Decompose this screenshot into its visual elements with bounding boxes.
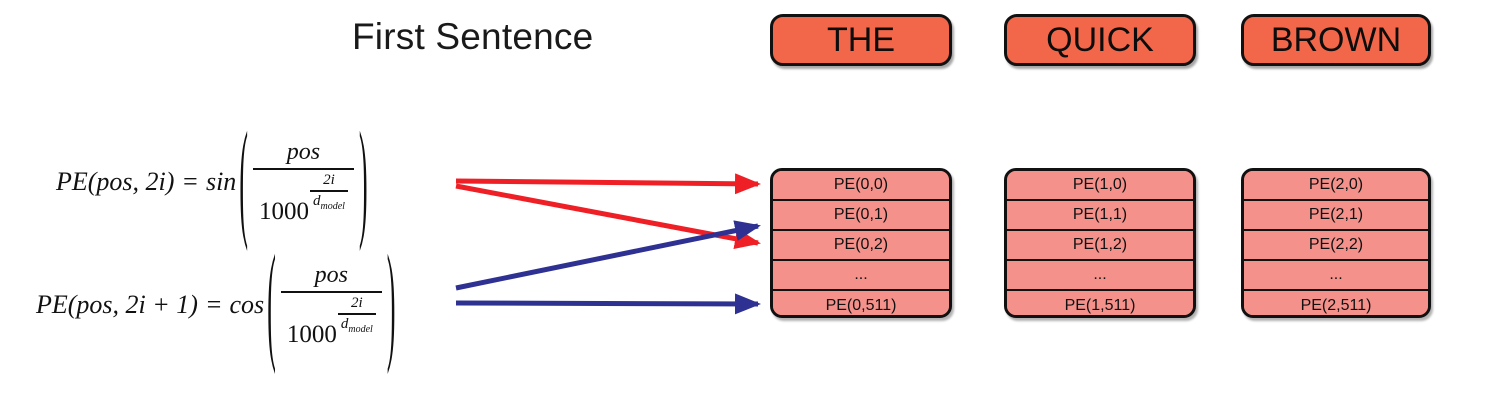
arrow-sin-to-pe-0-2 — [456, 186, 758, 243]
arrow-cos-to-pe-0-1 — [456, 226, 758, 288]
fraction-denominator: 1000 2i dmodel — [281, 293, 382, 349]
formula-pe-odd-cos: PE(pos, 2i + 1) = cos ( pos 1000 2i dmod… — [36, 262, 398, 349]
formula-equals: = — [205, 290, 223, 320]
pe-cell: PE(2,511) — [1244, 291, 1428, 318]
formula-fraction: pos 1000 2i dmodel — [281, 262, 382, 349]
pe-cell-ellipsis: ... — [773, 261, 949, 291]
formula-equals: = — [181, 167, 199, 197]
positional-encoding-diagram: First Sentence THE QUICK BROWN PE(pos, 2… — [0, 0, 1503, 401]
exponent-fraction: 2i dmodel — [310, 172, 348, 212]
word-token-label: BROWN — [1271, 21, 1401, 60]
pe-vector-stack-position-1[interactable]: PE(1,0) PE(1,1) PE(1,2) ... PE(1,511) — [1004, 168, 1196, 318]
exponent-denominator: dmodel — [338, 315, 376, 335]
pe-vector-stack-position-2[interactable]: PE(2,0) PE(2,1) PE(2,2) ... PE(2,511) — [1241, 168, 1431, 318]
word-token-box-quick[interactable]: QUICK — [1004, 14, 1196, 66]
formula-fraction: pos 1000 2i dmodel — [253, 139, 354, 226]
arrow-cos-to-pe-0-511 — [456, 303, 758, 304]
exponent-numerator: 2i — [319, 172, 339, 190]
right-paren-icon: ) — [359, 106, 368, 259]
pe-cell: PE(1,511) — [1007, 291, 1193, 318]
pe-cell: PE(0,1) — [773, 201, 949, 231]
word-token-box-brown[interactable]: BROWN — [1241, 14, 1431, 66]
exponent-denominator-subscript: model — [320, 201, 344, 212]
left-paren-icon: ( — [239, 106, 248, 259]
right-paren-icon: ) — [387, 229, 396, 382]
word-token-box-the[interactable]: THE — [770, 14, 952, 66]
pe-cell: PE(2,2) — [1244, 231, 1428, 261]
exponent-denominator-subscript: model — [348, 324, 372, 335]
formula-lhs: PE(pos, 2i) — [56, 167, 174, 197]
word-token-label: THE — [827, 21, 895, 60]
page-title: First Sentence — [352, 16, 593, 58]
pe-cell: PE(0,2) — [773, 231, 949, 261]
pe-cell: PE(1,1) — [1007, 201, 1193, 231]
pe-vector-stack-position-0[interactable]: PE(0,0) PE(0,1) PE(0,2) ... PE(0,511) — [770, 168, 952, 318]
pe-cell: PE(0,0) — [773, 171, 949, 201]
formula-pe-even-sin: PE(pos, 2i) = sin ( pos 1000 2i dmodel ) — [56, 139, 371, 226]
denominator-base: 1000 — [259, 198, 309, 226]
arrow-sin-to-pe-0-0 — [456, 181, 758, 184]
pe-cell: PE(2,0) — [1244, 171, 1428, 201]
formula-function-name: cos — [230, 290, 265, 320]
pe-cell-ellipsis: ... — [1007, 261, 1193, 291]
left-paren-icon: ( — [267, 229, 276, 382]
exponent-numerator: 2i — [347, 295, 367, 313]
pe-cell: PE(1,0) — [1007, 171, 1193, 201]
pe-cell: PE(2,1) — [1244, 201, 1428, 231]
fraction-numerator: pos — [305, 262, 358, 291]
fraction-numerator: pos — [277, 139, 330, 168]
pe-cell: PE(1,2) — [1007, 231, 1193, 261]
formula-function-name: sin — [206, 167, 236, 197]
denominator-base: 1000 — [287, 321, 337, 349]
word-token-label: QUICK — [1046, 21, 1154, 60]
pe-cell-ellipsis: ... — [1244, 261, 1428, 291]
fraction-denominator: 1000 2i dmodel — [253, 170, 354, 226]
exponent-denominator: dmodel — [310, 192, 348, 212]
exponent-fraction: 2i dmodel — [338, 295, 376, 335]
formula-lhs: PE(pos, 2i + 1) — [36, 290, 198, 320]
pe-cell: PE(0,511) — [773, 291, 949, 318]
